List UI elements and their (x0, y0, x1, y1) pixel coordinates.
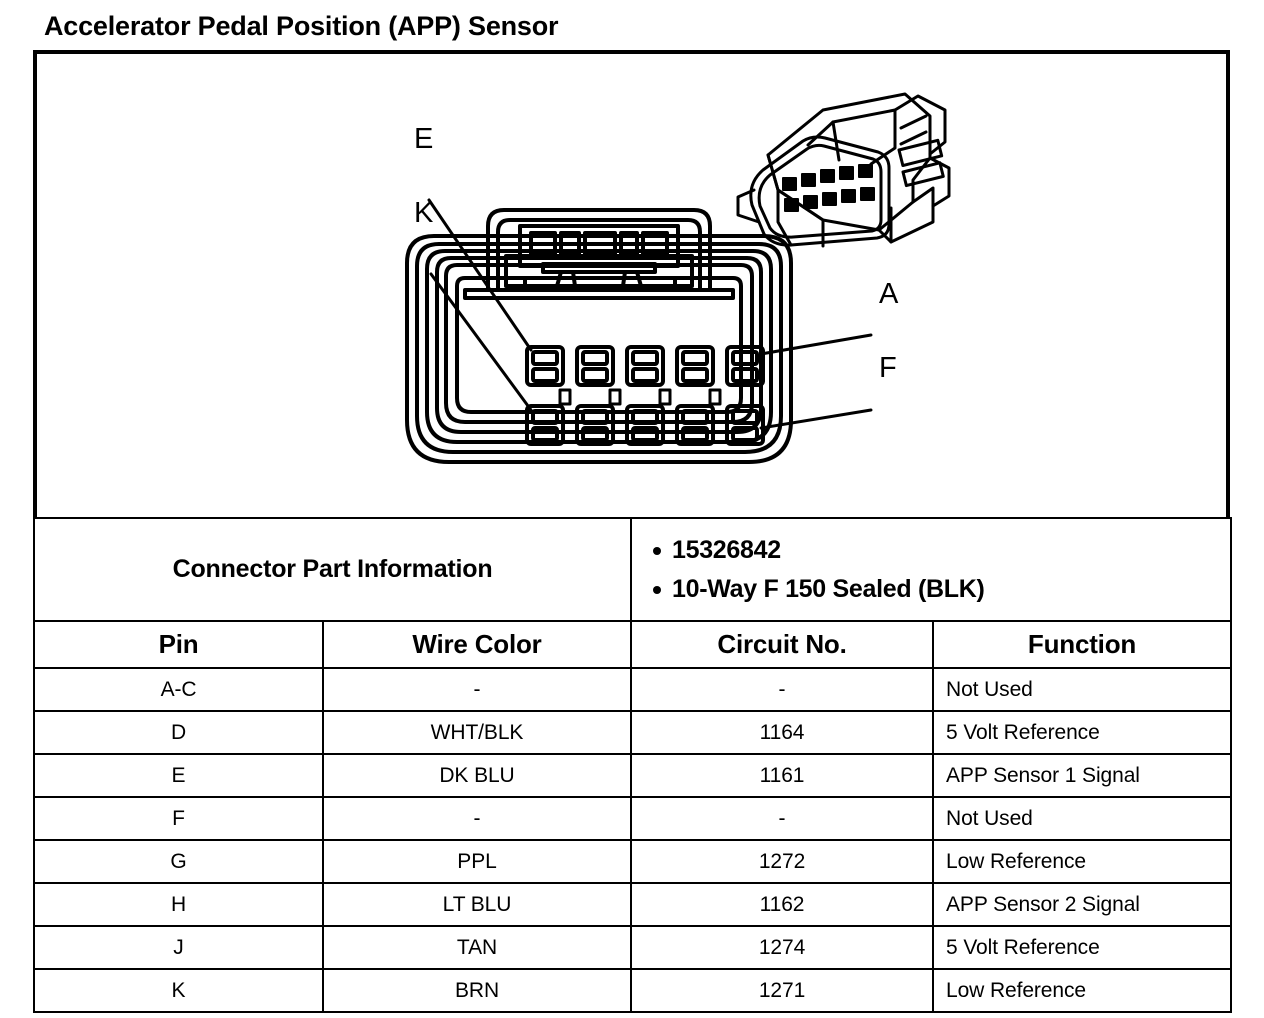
keying-nubs (560, 390, 720, 404)
cell-wire-color: LT BLU (323, 883, 631, 926)
cavity-grid (527, 347, 763, 444)
column-header-function: Function (933, 621, 1231, 668)
part-info-bullet-item: 15326842 (672, 531, 1230, 570)
connector-isometric-view (738, 94, 949, 246)
cell-pin: K (34, 969, 323, 1012)
connector-diagram: E K A F (33, 50, 1230, 517)
cavity-bottom-4 (677, 406, 713, 444)
cell-pin: H (34, 883, 323, 926)
cavity-top-5 (727, 347, 763, 385)
table-row: F - - Not Used (34, 797, 1231, 840)
cell-pin: F (34, 797, 323, 840)
cell-pin: D (34, 711, 323, 754)
cell-function: APP Sensor 1 Signal (933, 754, 1231, 797)
cell-circuit-no: 1162 (631, 883, 933, 926)
cell-wire-color: DK BLU (323, 754, 631, 797)
cell-wire-color: - (323, 797, 631, 840)
pinout-header-row: Pin Wire Color Circuit No. Function (34, 621, 1231, 668)
connector-part-information-values: 15326842 10-Way F 150 Sealed (BLK) (631, 518, 1231, 621)
cell-wire-color: WHT/BLK (323, 711, 631, 754)
cell-function: Not Used (933, 797, 1231, 840)
part-info-bullet-list: 15326842 10-Way F 150 Sealed (BLK) (646, 531, 1230, 609)
connector-part-information-row: Connector Part Information 15326842 10-W… (34, 518, 1231, 621)
cavity-top-3 (627, 347, 663, 385)
cavity-top-2 (577, 347, 613, 385)
callout-label-e: E (414, 123, 433, 155)
cell-wire-color: BRN (323, 969, 631, 1012)
cell-circuit-no: 1161 (631, 754, 933, 797)
cavity-bottom-3 (627, 406, 663, 444)
column-header-wire-color: Wire Color (323, 621, 631, 668)
table-row: J TAN 1274 5 Volt Reference (34, 926, 1231, 969)
callout-label-k: K (414, 197, 434, 229)
cell-circuit-no: 1274 (631, 926, 933, 969)
cell-pin: G (34, 840, 323, 883)
cell-circuit-no: 1271 (631, 969, 933, 1012)
cell-circuit-no: 1272 (631, 840, 933, 883)
cavity-bottom-2 (577, 406, 613, 444)
page-title: Accelerator Pedal Position (APP) Sensor (44, 11, 558, 42)
cell-function: Low Reference (933, 969, 1231, 1012)
table-row: H LT BLU 1162 APP Sensor 2 Signal (34, 883, 1231, 926)
callout-label-f: F (879, 352, 897, 384)
cell-wire-color: PPL (323, 840, 631, 883)
table-row: A-C - - Not Used (34, 668, 1231, 711)
cell-pin: A-C (34, 668, 323, 711)
connector-part-information-label: Connector Part Information (34, 518, 631, 621)
column-header-pin: Pin (34, 621, 323, 668)
cell-function: Low Reference (933, 840, 1231, 883)
cell-function: Not Used (933, 668, 1231, 711)
cell-circuit-no: - (631, 797, 933, 840)
table-row: G PPL 1272 Low Reference (34, 840, 1231, 883)
part-info-bullet-item: 10-Way F 150 Sealed (BLK) (672, 570, 1230, 609)
cell-wire-color: - (323, 668, 631, 711)
cavity-bottom-1 (527, 406, 563, 444)
connector-illustration-panel: E K A F (33, 50, 1230, 517)
document-page: Accelerator Pedal Position (APP) Sensor (0, 0, 1264, 1018)
table-row: D WHT/BLK 1164 5 Volt Reference (34, 711, 1231, 754)
cell-circuit-no: 1164 (631, 711, 933, 754)
table-row: E DK BLU 1161 APP Sensor 1 Signal (34, 754, 1231, 797)
cell-function: 5 Volt Reference (933, 926, 1231, 969)
cell-pin: J (34, 926, 323, 969)
connector-pinout-table: Connector Part Information 15326842 10-W… (33, 517, 1232, 1013)
column-header-circuit-no: Circuit No. (631, 621, 933, 668)
cell-pin: E (34, 754, 323, 797)
cell-function: 5 Volt Reference (933, 711, 1231, 754)
cell-function: APP Sensor 2 Signal (933, 883, 1231, 926)
cavity-top-1 (527, 347, 563, 385)
cavity-top-4 (677, 347, 713, 385)
table-row: K BRN 1271 Low Reference (34, 969, 1231, 1012)
callout-label-a: A (879, 278, 899, 310)
cell-wire-color: TAN (323, 926, 631, 969)
cell-circuit-no: - (631, 668, 933, 711)
